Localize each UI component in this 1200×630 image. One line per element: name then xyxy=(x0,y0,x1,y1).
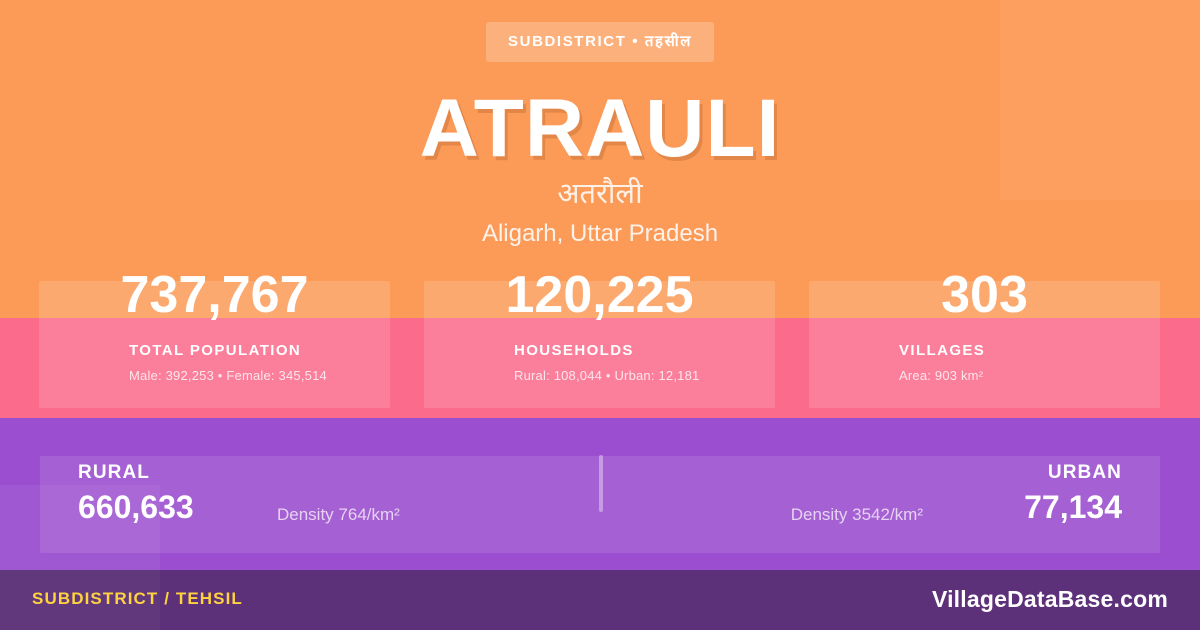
infographic-card: SUBDISTRICT • तहसील ATRAULI अतरौली Aliga… xyxy=(0,0,1200,630)
stat-value: 120,225 xyxy=(424,266,775,326)
subdistrict-badge: SUBDISTRICT • तहसील xyxy=(486,22,714,62)
stat-value: 303 xyxy=(809,266,1160,326)
urban-density: Density 3542/km² xyxy=(791,505,923,525)
rural-urban-divider xyxy=(599,455,603,512)
footer-site-name[interactable]: VillageDataBase.com xyxy=(932,586,1168,613)
urban-population: 77,134 xyxy=(1024,489,1122,526)
page-title: ATRAULI xyxy=(0,88,1200,170)
stat-label: HOUSEHOLDS xyxy=(514,342,634,359)
stat-card-villages: 303 VILLAGES Area: 903 km² xyxy=(809,281,1160,408)
stat-card-total-population: 737,767 TOTAL POPULATION Male: 392,253 •… xyxy=(39,281,390,408)
footer-category-label: SUBDISTRICT / TEHSIL xyxy=(32,589,243,609)
stat-sublabel: Rural: 108,044 • Urban: 12,181 xyxy=(514,368,699,383)
stat-label: VILLAGES xyxy=(899,342,985,359)
stat-label: TOTAL POPULATION xyxy=(129,342,301,359)
urban-heading: URBAN xyxy=(1048,462,1122,484)
rural-population: 660,633 xyxy=(78,489,194,526)
rural-heading: RURAL xyxy=(78,462,150,484)
stat-card-households: 120,225 HOUSEHOLDS Rural: 108,044 • Urba… xyxy=(424,281,775,408)
stat-sublabel: Male: 392,253 • Female: 345,514 xyxy=(129,368,327,383)
page-title-native: अतरौली xyxy=(0,176,1200,212)
page-subtitle-region: Aligarh, Uttar Pradesh xyxy=(0,219,1200,249)
stat-value: 737,767 xyxy=(39,266,390,326)
rural-density: Density 764/km² xyxy=(277,505,400,525)
stat-sublabel: Area: 903 km² xyxy=(899,368,983,383)
